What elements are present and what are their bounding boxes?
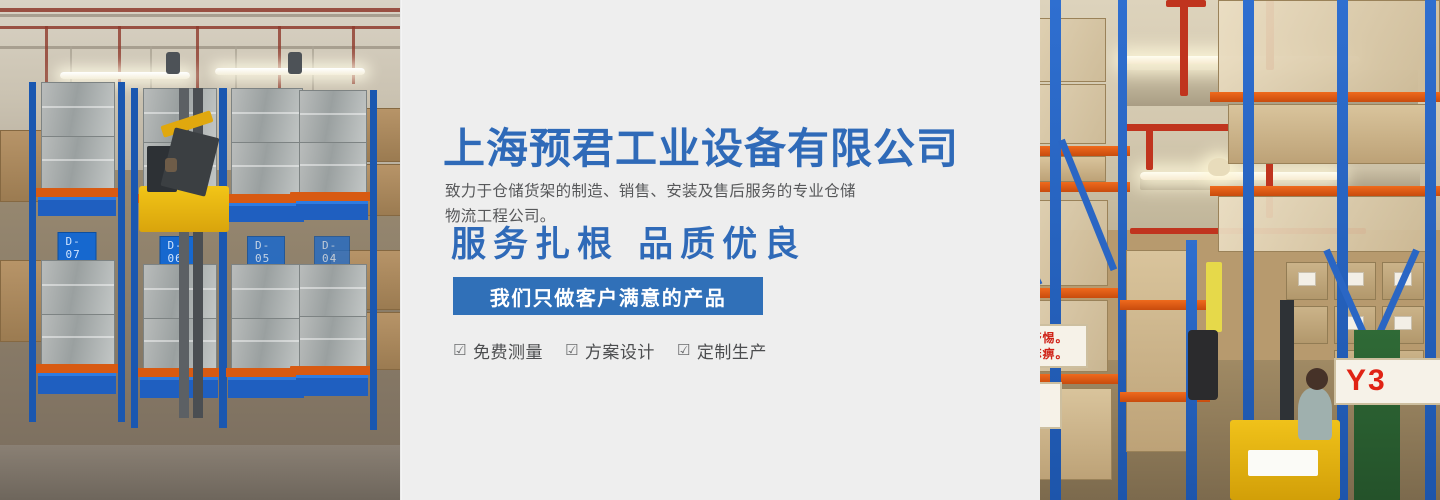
feature-label: 方案设计: [585, 338, 655, 363]
forklift-cab: [139, 186, 229, 232]
plastic-tote: [231, 318, 303, 370]
rack-upright: [118, 82, 125, 422]
forklift-panel: [1248, 450, 1318, 476]
sprinkler-pipe: [0, 8, 400, 12]
blue-pallet: [296, 375, 368, 396]
plastic-tote: [231, 88, 303, 144]
plastic-tote: [41, 260, 115, 316]
operator-head: [1306, 368, 1328, 390]
panel-divider: [400, 0, 402, 500]
rack-bay: D-04: [296, 90, 368, 430]
shelf-barcode-label: [1298, 272, 1316, 286]
pipe-hanger: [45, 26, 48, 84]
rack-bay: D-05: [228, 88, 304, 428]
company-subtitle: 致力于仓储货架的制造、销售、安装及售后服务的专业仓储物流工程公司。: [445, 179, 870, 229]
feature-label: 定制生产: [697, 338, 767, 363]
rack-upright: [29, 82, 36, 422]
yellow-bollard: [1206, 262, 1222, 332]
plastic-tote: [41, 82, 115, 138]
feature-item-scheme-design: ☑ 方案设计: [565, 338, 655, 363]
copy-block: 上海预君工业设备有限公司 致力于仓储货架的制造、销售、安装及售后服务的专业仓储物…: [443, 0, 1003, 500]
hero-banner: D-07 D-06 D-05: [0, 0, 1440, 500]
rack-beam: [290, 192, 374, 201]
checkbox-checked-icon: ☑: [453, 343, 467, 358]
aisle-sign-edge: Y3: [1334, 358, 1440, 405]
feature-item-custom-production: ☑ 定制生产: [677, 338, 767, 363]
checkbox-checked-icon: ☑: [677, 343, 691, 358]
sprinkler-pipe: [0, 26, 400, 29]
blue-pallet: [228, 377, 304, 398]
warehouse-floor: [0, 445, 400, 500]
checkbox-checked-icon: ☑: [565, 343, 579, 358]
ceiling-fixture: [166, 52, 180, 74]
rack-upright: [1425, 0, 1436, 500]
cta-button[interactable]: 我们只做客户满意的产品: [453, 277, 763, 315]
plastic-tote: [299, 316, 367, 368]
rack-beam: [290, 366, 374, 375]
plastic-tote: [41, 314, 115, 366]
left-warehouse-photo: D-07 D-06 D-05: [0, 0, 400, 500]
sprinkler-drop: [1146, 128, 1153, 170]
shelf-barcode-label: [1346, 272, 1364, 286]
blue-pallet: [228, 203, 304, 222]
forklift-operator: [165, 158, 177, 172]
pipe-hanger: [352, 26, 355, 84]
copy-panel: 上海预君工业设备有限公司 致力于仓储货架的制造、销售、安装及售后服务的专业仓储物…: [400, 0, 1040, 500]
rack-beam: [32, 188, 122, 197]
feature-label: 免费测量: [473, 338, 543, 363]
rack-beam: [32, 364, 122, 373]
plastic-tote: [299, 264, 367, 318]
shelf-barcode-label: [1394, 316, 1412, 330]
aisle-stored-goods: [1126, 250, 1188, 452]
rack-bay: D-07: [38, 82, 116, 422]
sprinkler-pipe: [1166, 0, 1206, 7]
blue-pallet: [296, 201, 368, 220]
company-title: 上海预君工业设备有限公司: [443, 128, 959, 170]
plastic-tote: [231, 142, 303, 196]
plastic-tote: [231, 264, 303, 320]
plastic-tote: [299, 90, 367, 144]
roof-beam: [0, 46, 400, 49]
aisle-column: [1188, 330, 1218, 400]
blue-pallet: [38, 197, 116, 216]
roof-beam: [0, 14, 400, 17]
aisle-equipment: [1354, 330, 1400, 500]
rack-upright: [370, 90, 377, 430]
wooden-pallet: [1228, 104, 1430, 164]
plastic-tote: [41, 136, 115, 190]
sprinkler-riser: [1180, 0, 1188, 96]
plastic-tote: [299, 142, 367, 194]
ceiling-fixture: [288, 52, 302, 74]
forklift-operator: [1298, 388, 1332, 440]
blue-pallet: [38, 373, 116, 394]
feature-item-free-measure: ☑ 免费测量: [453, 338, 543, 363]
company-slogan: 服务扎根 品质优良: [451, 227, 806, 262]
feature-list: ☑ 免费测量 ☑ 方案设计 ☑ 定制生产: [453, 338, 767, 363]
narrow-aisle-forklift: [145, 88, 225, 418]
rack-upright: [131, 88, 138, 428]
pipe-hanger: [278, 26, 281, 88]
pipe-hanger: [196, 26, 199, 92]
